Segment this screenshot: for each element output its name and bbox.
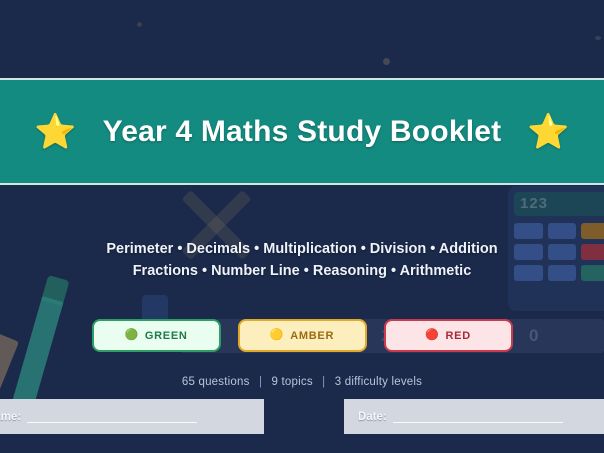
difficulty-badge-label: GREEN [145, 330, 188, 342]
star-icon: ⭐ [34, 115, 76, 149]
date-field[interactable]: Date: [344, 399, 604, 434]
footer-strip [0, 434, 604, 453]
red-circle-icon: 🔴 [425, 330, 439, 341]
stat-topics: 9 topics [272, 376, 313, 388]
difficulty-badge-red[interactable]: 🔴 RED [384, 319, 513, 352]
background-speck [595, 36, 601, 40]
background-speck [383, 58, 390, 65]
topic-list: Perimeter • Decimals • Multiplication • … [0, 238, 604, 282]
page-title: Year 4 Maths Study Booklet [103, 115, 502, 149]
difficulty-badge-label: RED [446, 330, 471, 342]
stat-separator: | [253, 376, 268, 388]
difficulty-legend: 🟢 GREEN 🟡 AMBER 🔴 RED [0, 319, 604, 352]
student-details-row: Name: Date: [0, 399, 604, 434]
date-field-rule [393, 422, 563, 423]
difficulty-badge-amber[interactable]: 🟡 AMBER [238, 319, 367, 352]
calculator-display: 123 [514, 192, 604, 216]
booklet-stats: 65 questions | 9 topics | 3 difficulty l… [0, 376, 604, 388]
stat-questions: 65 questions [182, 376, 250, 388]
topic-line-2: Fractions • Number Line • Reasoning • Ar… [0, 260, 604, 282]
date-field-label: Date: [358, 411, 387, 423]
star-icon: ⭐ [527, 115, 569, 149]
stat-difficulty-levels: 3 difficulty levels [335, 376, 422, 388]
background-speck [137, 22, 142, 27]
topic-line-1: Perimeter • Decimals • Multiplication • … [0, 238, 604, 260]
difficulty-badge-label: AMBER [290, 330, 334, 342]
name-field[interactable]: Name: [0, 399, 264, 434]
name-field-rule [27, 422, 197, 423]
booklet-cover-page: 2 0 123 ⭐ Year 4 Maths Study Booklet ⭐ P… [0, 0, 604, 453]
amber-circle-icon: 🟡 [270, 330, 284, 341]
green-circle-icon: 🟢 [124, 330, 138, 341]
name-field-label: Name: [0, 411, 21, 423]
title-banner: ⭐ Year 4 Maths Study Booklet ⭐ [0, 78, 604, 185]
stat-separator: | [316, 376, 331, 388]
difficulty-badge-green[interactable]: 🟢 GREEN [92, 319, 221, 352]
